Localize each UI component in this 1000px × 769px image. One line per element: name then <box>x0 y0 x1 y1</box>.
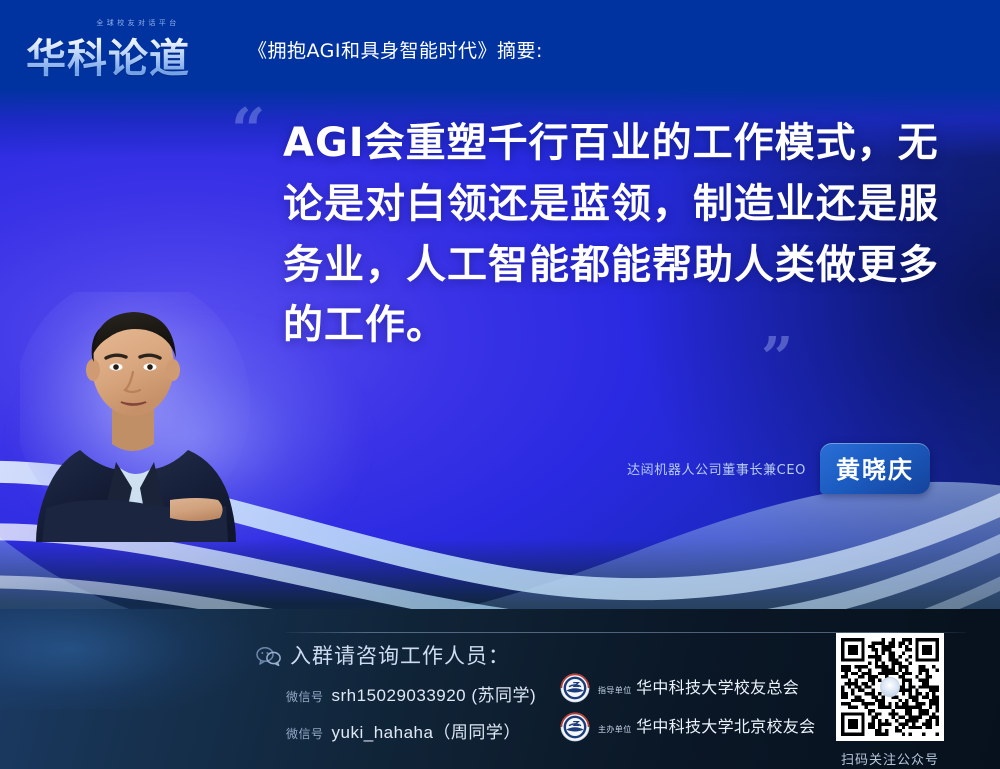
speaker-name-badge: 黄晓庆 <box>820 443 930 494</box>
attribution: 达闼机器人公司董事长兼CEO 黄晓庆 <box>600 443 930 494</box>
qr-code[interactable] <box>836 633 944 741</box>
page-title: 《拥抱AGI和具身智能时代》摘要: <box>248 30 543 63</box>
organization-row: 指导单位 华中科技大学校友总会 <box>560 673 799 703</box>
qr-section: 扫码关注公众号 <box>836 633 944 768</box>
contact-label: 微信号 <box>286 688 324 705</box>
organization-name: 华中科技大学校友总会 <box>636 678 799 697</box>
wechat-icon <box>256 646 282 666</box>
header: 全球校友对话平台 华科论道 《拥抱AGI和具身智能时代》摘要: <box>0 0 1000 92</box>
quote-close-mark: ” <box>761 330 791 386</box>
brand-logo[interactable]: 全球校友对话平台 华科论道 <box>26 18 226 74</box>
qr-logo-icon <box>880 677 900 697</box>
organization-row: 主办单位 华中科技大学北京校友会 <box>560 712 815 742</box>
contact-title: 入群请咨询工作人员： <box>290 640 510 670</box>
contact-row: 微信号 yuki_hahaha（周同学） <box>286 718 521 743</box>
contact-value[interactable]: srh15029033920 (苏同学) <box>332 681 537 706</box>
organization-kicker: 主办单位 <box>598 725 632 734</box>
speaker-role: 达闼机器人公司董事长兼CEO <box>627 459 806 478</box>
contact-row: 微信号 srh15029033920 (苏同学) <box>286 681 536 706</box>
hust-emblem-icon <box>560 712 590 742</box>
contact-label: 微信号 <box>286 725 324 742</box>
contact-value[interactable]: yuki_hahaha（周同学） <box>332 718 521 743</box>
logo-wordmark: 华科论道 <box>26 26 190 84</box>
qr-caption: 扫码关注公众号 <box>836 749 944 768</box>
speaker-portrait <box>20 292 252 542</box>
poster-root: 全球校友对话平台 华科论道 《拥抱AGI和具身智能时代》摘要: <box>0 0 1000 769</box>
quote-open-mark: “ <box>231 101 264 161</box>
organization-kicker: 指导单位 <box>598 686 632 695</box>
quote-text: AGI会重塑千行百业的工作模式，无论是对白领还是蓝领，制造业还是服务业，人工智能… <box>283 113 943 356</box>
organization-name: 华中科技大学北京校友会 <box>636 717 815 736</box>
hust-emblem-icon <box>560 673 590 703</box>
